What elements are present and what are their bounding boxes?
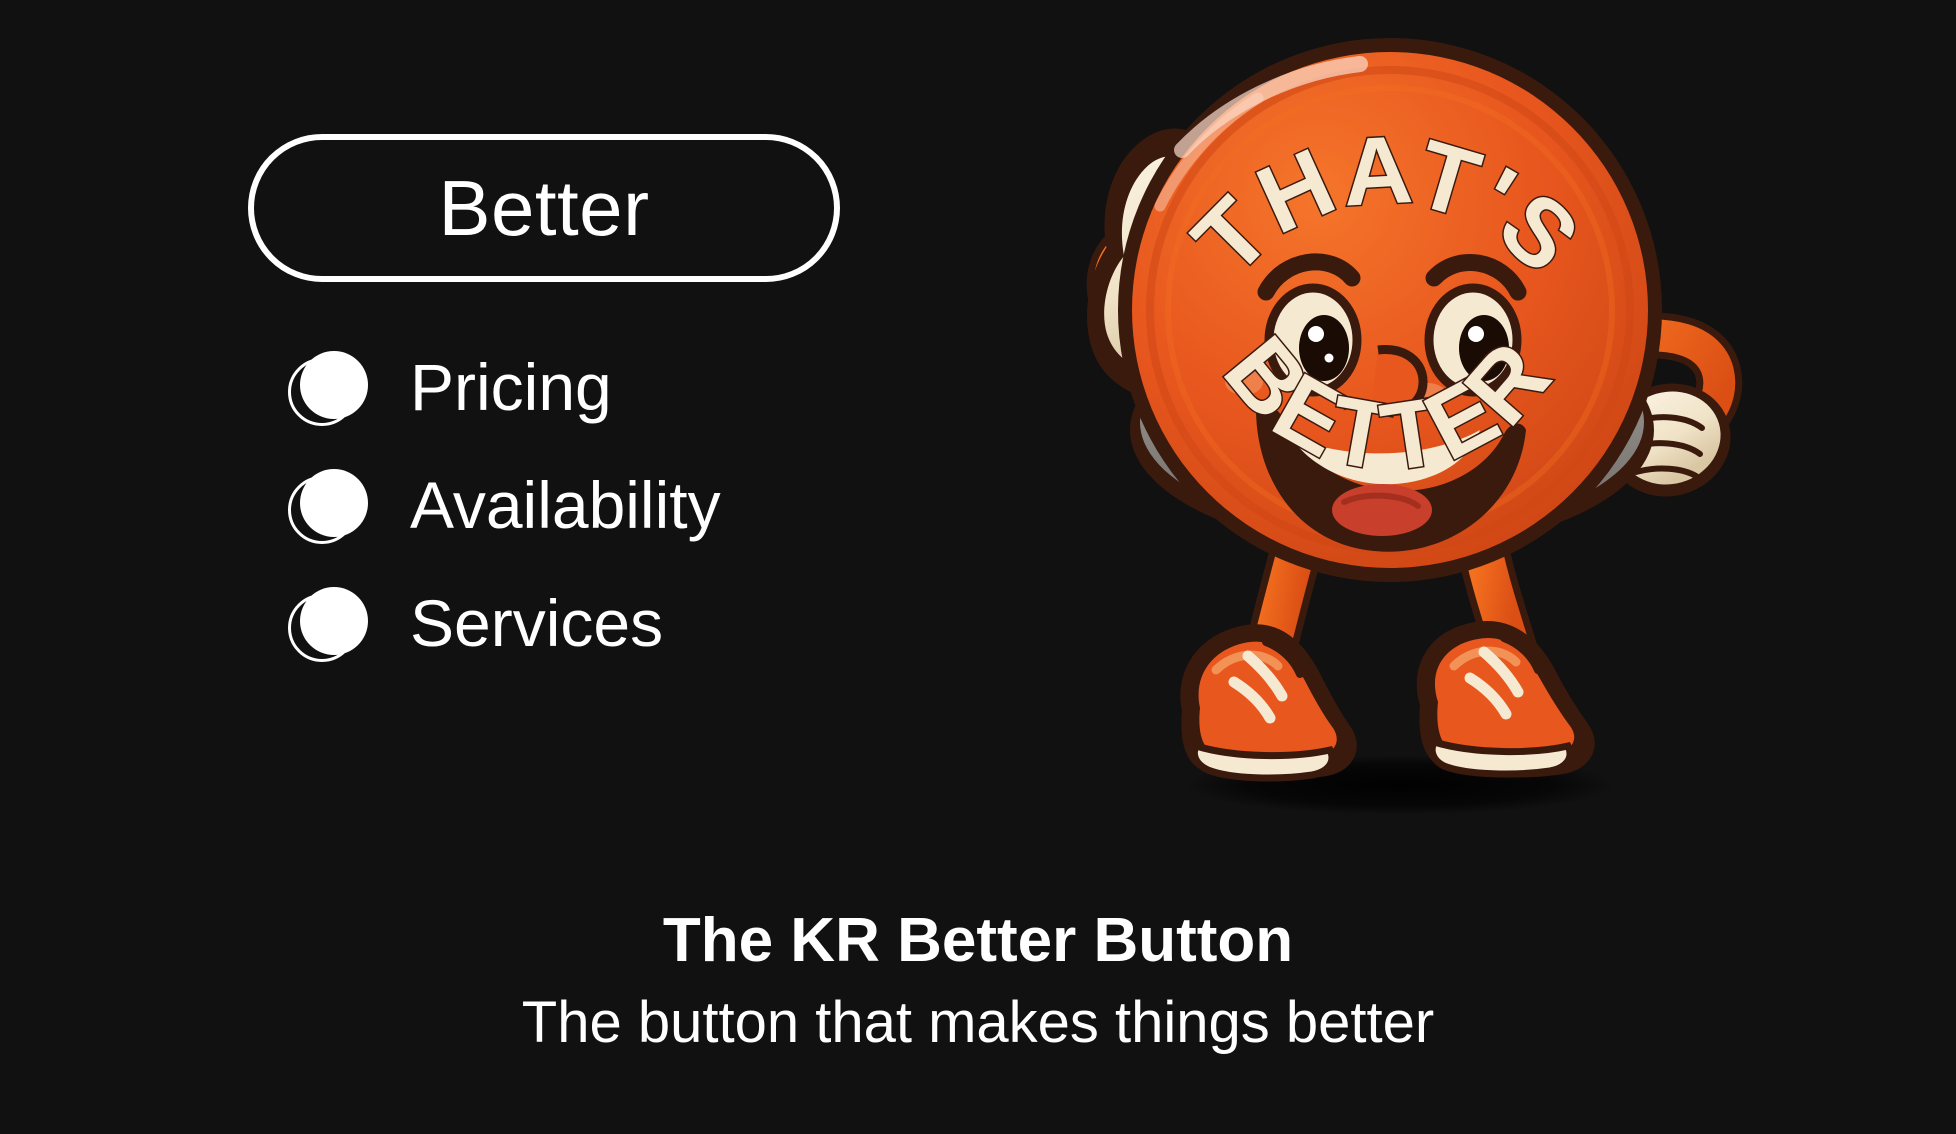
feature-item-label: Pricing — [410, 354, 612, 420]
feature-item-availability[interactable]: Availability — [248, 446, 1048, 564]
product-tagline: The button that makes things better — [0, 988, 1956, 1058]
feature-item-label: Services — [410, 590, 663, 656]
better-pill-button-label: Better — [438, 169, 649, 247]
left-panel: Better Pricing Availability — [248, 134, 1048, 682]
better-button-mascot: THAT'S — [1010, 10, 1770, 840]
product-title: The KR Better Button — [0, 905, 1956, 976]
right-shoe — [1427, 631, 1585, 774]
better-pill-button[interactable]: Better — [248, 134, 840, 282]
filled-circle-ring-icon — [296, 351, 368, 423]
feature-list: Pricing Availability Services — [248, 328, 1048, 682]
filled-circle-ring-icon — [296, 469, 368, 541]
filled-circle-ring-icon — [296, 587, 368, 659]
left-shoe — [1190, 634, 1346, 778]
feature-item-pricing[interactable]: Pricing — [248, 328, 1048, 446]
feature-item-services[interactable]: Services — [248, 564, 1048, 682]
footer-text-block: The KR Better Button The button that mak… — [0, 905, 1956, 1058]
slide-canvas: Better Pricing Availability — [0, 0, 1956, 1134]
feature-item-label: Availability — [410, 472, 721, 538]
